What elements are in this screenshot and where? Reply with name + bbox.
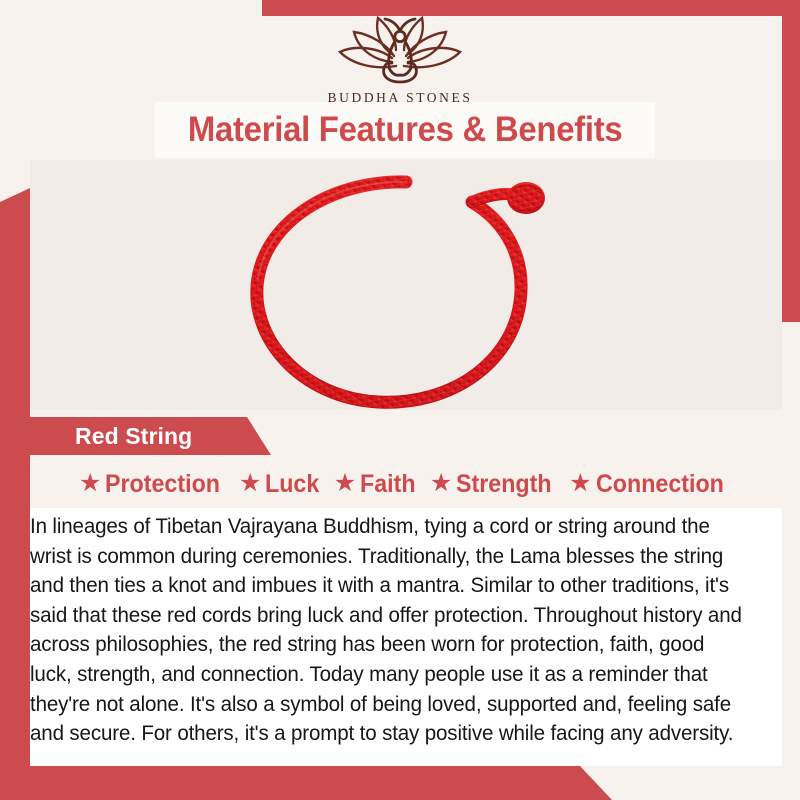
feature-benefits-list: ★ Protection ★ Luck ★ Faith ★ Strength ★… xyxy=(30,463,782,505)
star-icon: ★ xyxy=(430,471,452,496)
infographic-card: BUDDHA STONES Material Features & Benefi… xyxy=(0,0,800,800)
star-icon: ★ xyxy=(569,471,591,496)
description-paragraph: In lineages of Tibetan Vajrayana Buddhis… xyxy=(30,512,742,749)
feature-label: Protection xyxy=(105,470,220,499)
frame-accent-left xyxy=(0,188,30,788)
feature-item-strength: ★ Strength xyxy=(426,470,563,499)
section-ribbon: Red String xyxy=(23,417,271,455)
star-icon: ★ xyxy=(239,471,261,496)
star-icon: ★ xyxy=(79,471,101,496)
section-ribbon-label: Red String xyxy=(75,423,192,450)
product-image-stage xyxy=(30,160,782,410)
feature-label: Faith xyxy=(360,470,416,499)
description-block: In lineages of Tibetan Vajrayana Buddhis… xyxy=(30,508,782,766)
page-title: Material Features & Benefits xyxy=(188,110,623,150)
lotus-meditation-figure-icon xyxy=(334,14,466,88)
feature-item-connection: ★ Connection xyxy=(565,470,737,499)
feature-item-faith: ★ Faith xyxy=(330,470,424,499)
feature-label: Connection xyxy=(596,470,724,499)
star-icon: ★ xyxy=(334,471,356,496)
title-banner: Material Features & Benefits xyxy=(155,102,655,158)
feature-label: Luck xyxy=(265,470,319,499)
feature-label: Strength xyxy=(456,470,552,499)
red-string-bracelet-image xyxy=(220,166,580,410)
feature-item-luck: ★ Luck xyxy=(235,470,328,499)
frame-accent-bottom xyxy=(0,766,640,800)
feature-item-protection: ★ Protection xyxy=(75,470,233,499)
brand-logo: BUDDHA STONES xyxy=(0,14,800,106)
